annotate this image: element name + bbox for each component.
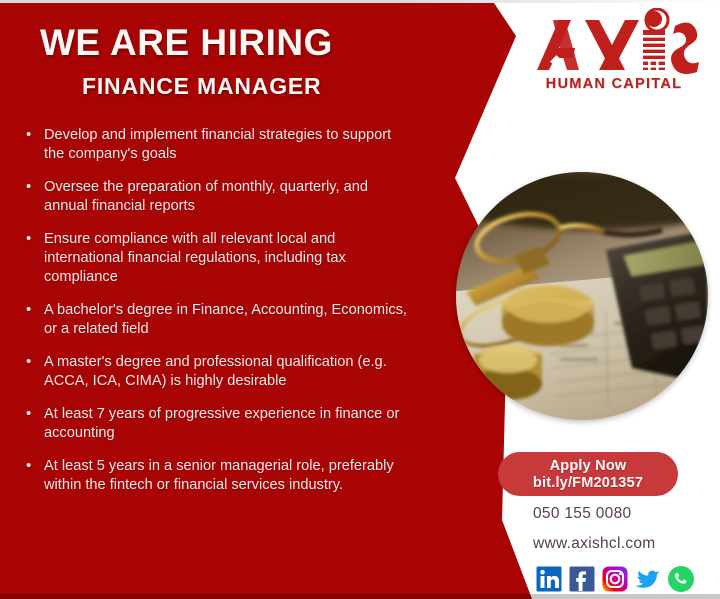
top-edge-highlight — [0, 0, 720, 3]
whatsapp-icon[interactable] — [666, 564, 696, 594]
apply-link: bit.ly/FM201357 — [533, 475, 643, 491]
page-title: WE ARE HIRING — [40, 24, 333, 63]
finance-desk-photo — [456, 172, 708, 420]
list-item: A master's degree and professional quali… — [22, 353, 414, 391]
job-title: FINANCE MANAGER — [82, 73, 333, 100]
list-item: Ensure compliance with all relevant loca… — [22, 230, 414, 287]
apply-now-button[interactable]: Apply Now bit.ly/FM201357 — [498, 452, 678, 496]
facebook-icon[interactable] — [567, 564, 597, 594]
headline-block: WE ARE HIRING FINANCE MANAGER — [40, 24, 333, 100]
company-logo: HUMAN CAPITAL — [524, 8, 704, 108]
contact-website[interactable]: www.axishcl.com — [533, 535, 656, 553]
contact-phone[interactable]: 050 155 0080 — [533, 505, 656, 523]
social-links — [534, 564, 696, 594]
list-item: Develop and implement financial strategi… — [22, 126, 414, 164]
photo-illustration — [456, 172, 708, 420]
list-item: A bachelor's degree in Finance, Accounti… — [22, 301, 414, 339]
hiring-poster: WE ARE HIRING FINANCE MANAGER — [0, 0, 720, 599]
list-item: At least 5 years in a senior managerial … — [22, 457, 414, 495]
logo-tagline: HUMAN CAPITAL — [524, 76, 704, 92]
linkedin-icon[interactable] — [534, 564, 564, 594]
requirements-list: Develop and implement financial strategi… — [22, 126, 414, 509]
axis-wordmark-icon — [529, 8, 699, 80]
contact-block: 050 155 0080 www.axishcl.com — [533, 505, 656, 553]
apply-label: Apply Now — [550, 458, 627, 474]
twitter-icon[interactable] — [633, 564, 663, 594]
list-item: At least 7 years of progressive experien… — [22, 405, 414, 443]
instagram-icon[interactable] — [600, 564, 630, 594]
bottom-edge-shade — [0, 594, 720, 599]
list-item: Oversee the preparation of monthly, quar… — [22, 178, 414, 216]
